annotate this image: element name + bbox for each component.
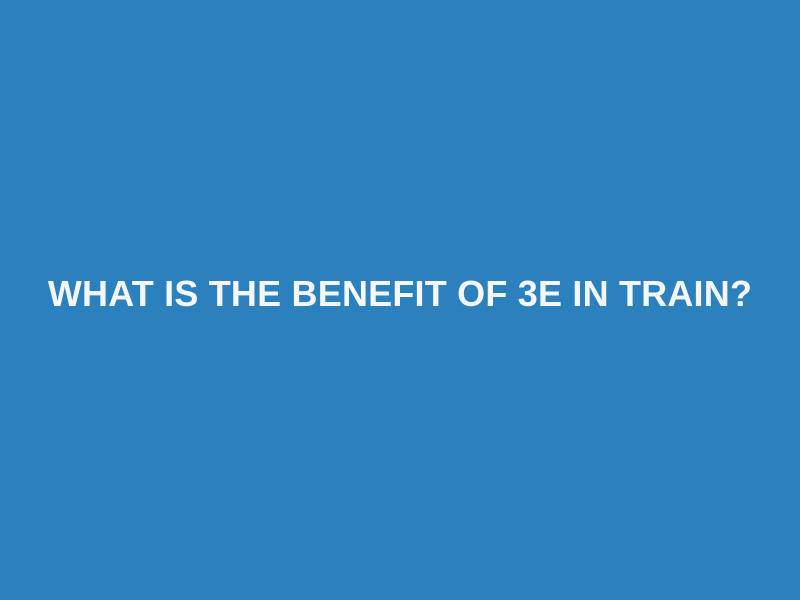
title-band: WHAT IS THE BENEFIT OF 3E IN TRAIN?	[0, 272, 800, 316]
featured-image-card: WHAT IS THE BENEFIT OF 3E IN TRAIN?	[0, 0, 800, 600]
page-title: WHAT IS THE BENEFIT OF 3E IN TRAIN?	[48, 272, 752, 316]
